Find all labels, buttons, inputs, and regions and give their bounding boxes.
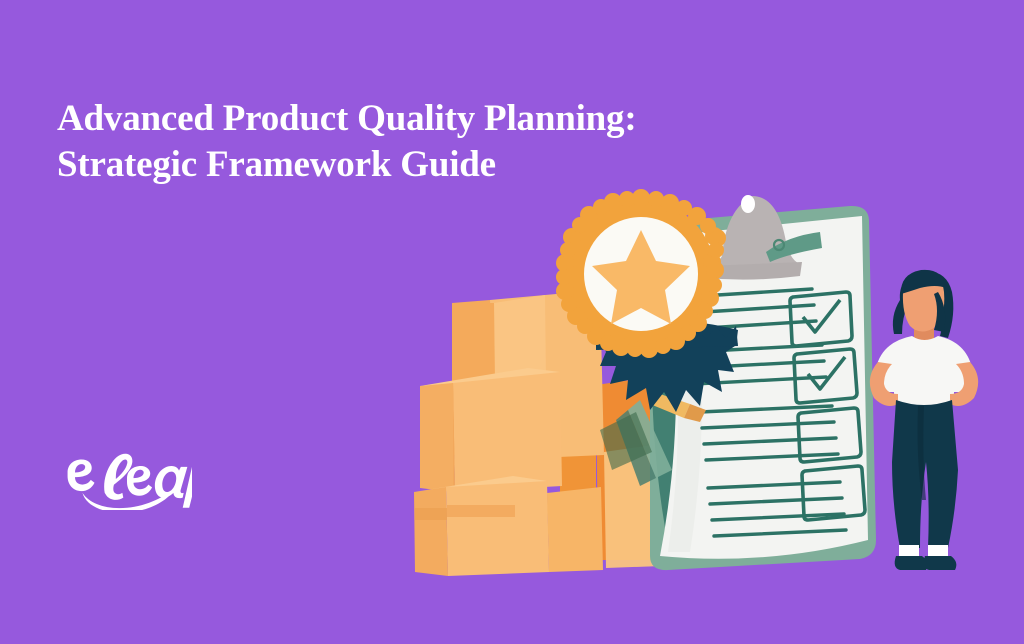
- checkmark-1: [803, 300, 840, 332]
- eleap-logo-icon[interactable]: [62, 448, 192, 510]
- page-title: Advanced Product Quality Planning: Strat…: [57, 96, 677, 188]
- checkbox-1: [790, 292, 852, 346]
- eleap-logo[interactable]: [62, 448, 192, 510]
- marketing-banner: Advanced Product Quality Planning: Strat…: [0, 0, 1024, 644]
- clipboard-paper: [660, 216, 868, 559]
- paper-text-lines: [690, 289, 846, 536]
- hair: [893, 271, 953, 338]
- badge-inner-circle: [584, 217, 698, 331]
- person-figure: [870, 270, 978, 570]
- pants: [892, 400, 958, 548]
- pencil-accent: [600, 392, 706, 486]
- checkmark-2: [808, 357, 845, 389]
- badge-scallop: [556, 189, 726, 358]
- checklist-checkboxes: [790, 292, 865, 520]
- clip-hole: [741, 195, 755, 213]
- title-line-2: Strategic Framework Guide: [57, 142, 677, 188]
- face: [903, 272, 944, 332]
- checkbox-4: [802, 466, 865, 520]
- clipboard: [650, 206, 876, 570]
- title-line-1: Advanced Product Quality Planning:: [57, 96, 677, 142]
- award-ribbon: [596, 321, 738, 412]
- checkbox-2: [794, 349, 857, 403]
- award-badge: [556, 189, 726, 358]
- shirt: [876, 336, 972, 408]
- badge-star-icon: [592, 230, 690, 324]
- cardboard-boxes: [414, 290, 676, 576]
- checkbox-3: [798, 408, 861, 462]
- clipboard-clip: [672, 195, 822, 280]
